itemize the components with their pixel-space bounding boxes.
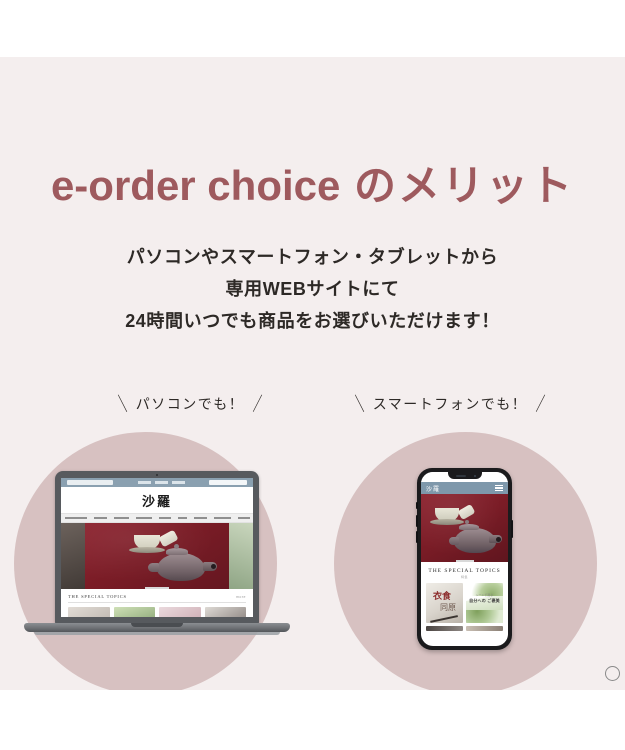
top-white-band (0, 0, 625, 57)
site-utility-bar (61, 478, 253, 487)
page-title-japanese: のメリット (340, 162, 574, 209)
laptop-base-notch (131, 623, 183, 627)
site-topics-grid (68, 607, 246, 617)
teapot-lid (459, 524, 479, 530)
phone-speaker-icon (456, 475, 466, 477)
hamburger-menu-icon (495, 485, 503, 492)
site-logo: 沙羅 (142, 491, 172, 510)
laptop-camera-icon (156, 474, 158, 476)
topic-card-image-bottom (466, 610, 503, 623)
page-title: e-order choice のメリット (0, 165, 625, 207)
mobile-topics-cards: 衣食 同原 シーンで選ぶ 自分への ご褒美 (426, 583, 503, 623)
subcopy-line-2: 専用WEBサイトにて (0, 273, 625, 305)
site-util-notice (67, 480, 113, 485)
site-nav-item (194, 517, 207, 519)
site-nav (61, 513, 253, 523)
site-search-input (209, 480, 247, 485)
site-nav-item (94, 517, 107, 519)
subcopy-line-1: パソコンやスマートフォン・タブレットから (0, 241, 625, 273)
slash-right-icon: ／ (247, 391, 268, 416)
mobile-hero-caption (456, 560, 474, 562)
site-nav-item (214, 517, 231, 519)
promo-page: e-order choice のメリット パソコンやスマートフォン・タブレットか… (0, 0, 625, 750)
phone-power-button (511, 520, 513, 538)
phone-screen: 沙羅 (421, 472, 508, 646)
topic-strip-item (426, 626, 463, 631)
site-logo-row: 沙羅 (61, 487, 253, 513)
slash-right-icon: ／ (530, 391, 551, 416)
topic-card-decoration (430, 615, 458, 622)
teapot-knob (465, 520, 469, 524)
teapot-spout (148, 563, 159, 572)
mobile-hero-image (421, 494, 508, 562)
topic-card-heading: 衣食 (433, 591, 451, 601)
topic-card (205, 607, 247, 617)
tea-bowl (134, 535, 160, 550)
site-nav-item (136, 517, 152, 519)
topic-card (68, 607, 110, 617)
hero-caption (145, 587, 169, 589)
site-nav-item (178, 517, 187, 519)
teapot-lid (166, 548, 188, 555)
site-nav-item (114, 517, 129, 519)
site-nav-item (238, 517, 250, 519)
tea-bowl-lid (458, 504, 476, 520)
mobile-topics-title: THE SPECIAL TOPICS (426, 568, 503, 574)
mobile-site-logo: 沙羅 (426, 484, 440, 493)
mobile-topics-subtitle: 特集 (426, 575, 503, 579)
label-pc-text: パソコンでも！ (136, 396, 245, 412)
site-topics-section: THE SPECIAL TOPICS more (61, 589, 253, 617)
topic-card-subheading: 同原 (440, 603, 456, 612)
hero-side-left (61, 523, 85, 589)
slash-left-icon: ＼ (112, 391, 133, 416)
topic-card-heading: 自分への ご褒美 (466, 598, 503, 604)
topic-card: 衣食 同原 (426, 583, 463, 623)
phone-volume-down-button (416, 531, 418, 543)
teapot-spout (449, 537, 459, 545)
phone-body: 沙羅 (417, 468, 512, 650)
site-util-link (138, 481, 151, 484)
site-nav-item (159, 517, 171, 519)
site-util-link (172, 481, 185, 484)
hero-panel: e-order choice のメリット パソコンやスマートフォン・タブレットか… (0, 57, 625, 690)
site-util-links (138, 481, 185, 484)
tea-bowl (435, 508, 459, 522)
bottom-white-band (0, 690, 625, 750)
phone-camera-icon (474, 475, 476, 477)
laptop-mockup: 沙羅 (24, 471, 290, 647)
phone-volume-up-button (416, 515, 418, 527)
mobile-topics-strip (426, 626, 503, 631)
label-sp-text: スマートフォンでも！ (373, 396, 528, 412)
topic-card-eyebrow: シーンで選ぶ (466, 593, 503, 597)
site-nav-item (65, 517, 87, 519)
teapot-handle (489, 535, 502, 543)
subcopy: パソコンやスマートフォン・タブレットから 専用WEBサイトにて 24時間いつでも… (0, 241, 625, 337)
site-util-link (155, 481, 168, 484)
teapot-body (157, 553, 205, 581)
label-sp: ＼スマートフォンでも！／ (300, 393, 600, 414)
laptop-screen: 沙羅 (61, 478, 253, 617)
pagination-dot[interactable] (605, 666, 620, 681)
slash-left-icon: ＼ (349, 391, 370, 416)
laptop-lid: 沙羅 (55, 471, 259, 625)
topic-card (114, 607, 156, 617)
phone-mute-switch (416, 502, 418, 509)
hero-side-right (229, 523, 253, 589)
phone-mockup: 沙羅 (417, 468, 512, 650)
mobile-topics-section: THE SPECIAL TOPICS 特集 衣食 同原 シーンで選ぶ (421, 562, 508, 631)
topic-card (159, 607, 201, 617)
label-pc: ＼パソコンでも！／ (40, 393, 340, 414)
teapot-handle (203, 562, 217, 571)
site-hero (61, 523, 253, 589)
phone-notch (448, 472, 482, 479)
topic-strip-item (466, 626, 503, 631)
subcopy-line-3: 24時間いつでも商品をお選びいただけます！ (0, 305, 625, 337)
site-topics-head: THE SPECIAL TOPICS more (68, 594, 246, 603)
hero-main-image (85, 523, 229, 589)
site-topics-title: THE SPECIAL TOPICS (68, 594, 127, 599)
mobile-site-header: 沙羅 (421, 482, 508, 494)
topic-card: シーンで選ぶ 自分への ご褒美 (466, 583, 503, 623)
page-title-latin: e-order choice (51, 162, 340, 209)
laptop-foot (34, 632, 280, 635)
site-topics-more-link: more (236, 595, 246, 599)
